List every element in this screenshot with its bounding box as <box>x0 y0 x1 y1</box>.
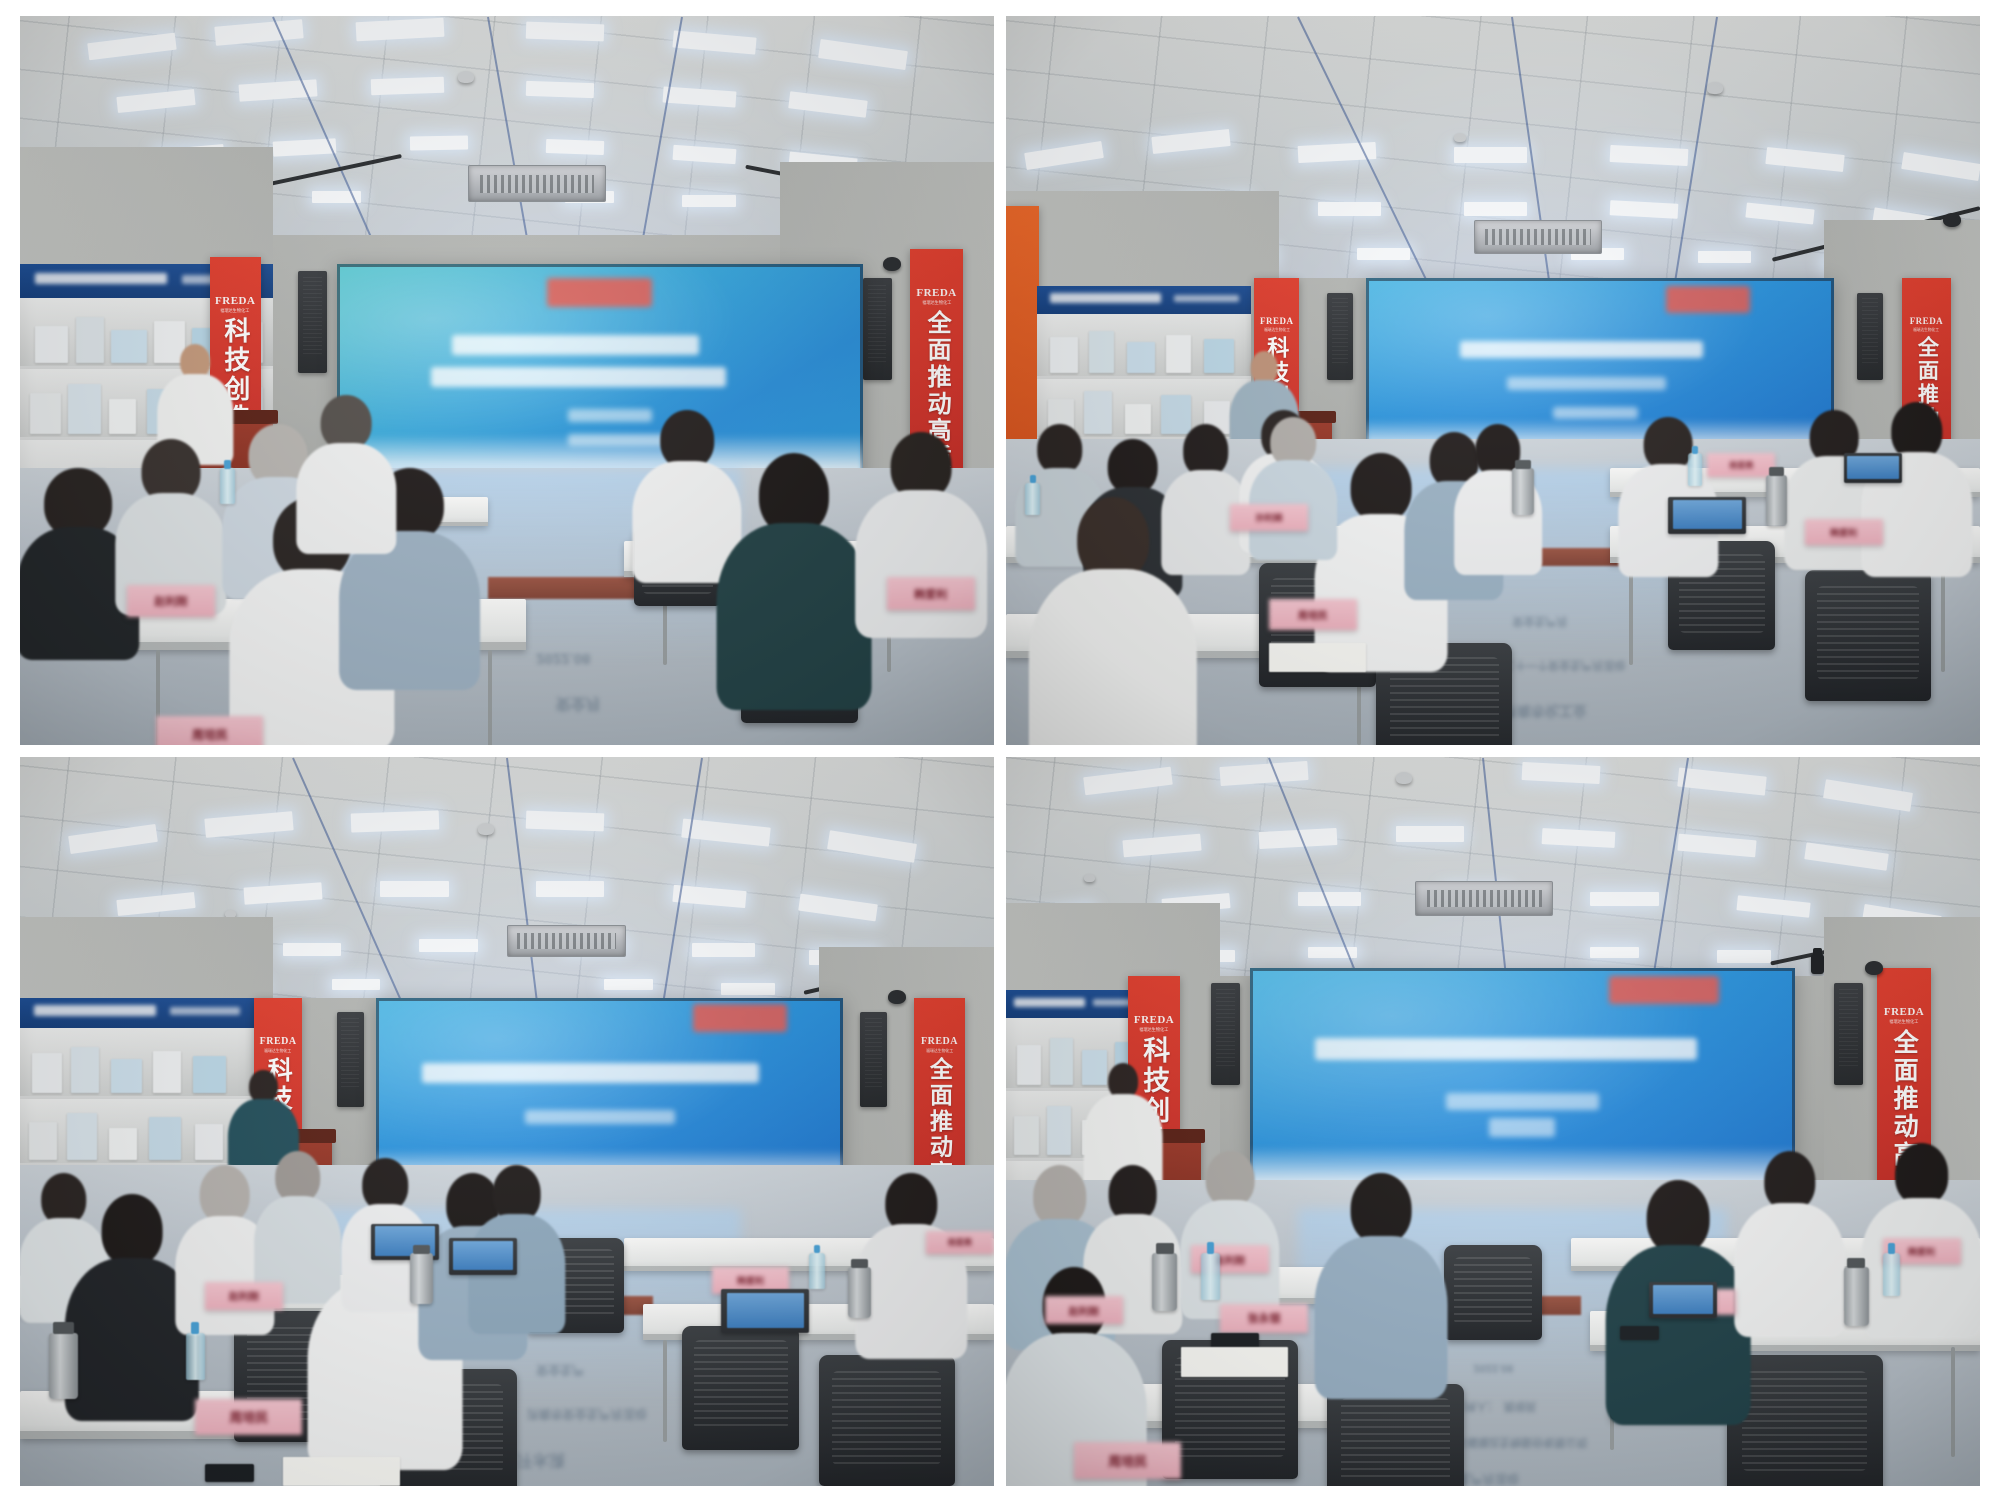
attendee <box>721 453 867 686</box>
smartphone <box>205 1464 254 1482</box>
panel-bottom-right: FREDA 福瑞达生物化工 科技创造 FREDA 福瑞达生物化工 全面推动高质 <box>1006 757 1980 1486</box>
name-card: 张永银 <box>1220 1304 1308 1333</box>
table-leg <box>1629 563 1633 665</box>
chair <box>1444 1245 1541 1340</box>
name-card-text: 韩爱利 <box>914 586 947 602</box>
shelf-sign-text <box>1050 293 1161 303</box>
slide-title <box>452 335 699 355</box>
ceiling-lamp <box>1454 147 1527 163</box>
thermos <box>1844 1267 1869 1325</box>
meeting-room-scene: FREDA 福瑞达生物化工 科技创造 FREDA 福瑞达生物化工 全面推动高质 <box>20 757 994 1486</box>
attendee-body <box>1315 1236 1448 1399</box>
attendee <box>1162 424 1250 563</box>
product-box <box>153 1051 181 1093</box>
water-bottle <box>1025 483 1040 516</box>
product-box <box>67 1113 97 1160</box>
banner-side-text <box>1016 247 1030 264</box>
attendee-body <box>717 523 872 710</box>
attendee <box>1737 1151 1844 1319</box>
product-box <box>1089 331 1115 373</box>
panel-bottom-left: FREDA 福瑞达生物化工 科技创造 FREDA 福瑞达生物化工 全面推动高质 <box>20 757 994 1486</box>
banner-brand-sub: 福瑞达生物化工 <box>922 301 951 306</box>
laptop <box>721 1289 809 1333</box>
name-card-text: 韩爱利 <box>1908 1245 1935 1258</box>
name-card-text: 周培民 <box>192 726 228 743</box>
product-box <box>111 1059 141 1093</box>
meeting-room-scene: FREDA 福瑞达生物化工 科技创造 FREDA 福瑞达生物化工 全面推动高质 <box>20 16 994 745</box>
floor-reflected-text: 安全生产 <box>536 1362 584 1379</box>
banner-brand: FREDA <box>1884 1007 1924 1018</box>
slide-title <box>1315 1038 1697 1060</box>
chair <box>819 1355 955 1486</box>
ceiling-lamp <box>604 979 653 990</box>
product-box <box>1125 404 1151 433</box>
attendee <box>858 1173 965 1341</box>
ceiling-lamp <box>526 22 604 42</box>
shelf-row <box>1037 314 1251 378</box>
shelf-row <box>20 1028 254 1099</box>
panel-top-left: FREDA 福瑞达生物化工 科技创造 FREDA 福瑞达生物化工 全面推动高质 <box>20 16 994 745</box>
name-card: 赵利刚 <box>1045 1296 1123 1324</box>
product-box <box>1014 1116 1039 1155</box>
slide-title-line2 <box>431 367 726 387</box>
chair <box>1327 1384 1463 1486</box>
smartphone <box>1620 1326 1659 1341</box>
name-card-text: 孙利娟 <box>1255 511 1282 524</box>
name-card: 赵利刚 <box>127 585 215 618</box>
ceiling-lamp <box>526 810 604 831</box>
thermos <box>1512 468 1533 515</box>
name-card: 赵利刚 <box>205 1282 283 1310</box>
name-card: 周培民 <box>195 1399 302 1435</box>
security-camera-icon <box>1865 961 1883 975</box>
attendee <box>298 395 395 541</box>
product-box <box>76 317 104 363</box>
water-bottle <box>186 1333 205 1380</box>
name-card-text: 杨爱燕 <box>1729 460 1753 471</box>
attendee-head <box>1351 1173 1412 1244</box>
wall-speaker <box>1211 983 1240 1085</box>
wall-speaker <box>1834 983 1863 1085</box>
wall-speaker <box>1857 293 1882 380</box>
banner-brand-sub: 福瑞达生物化工 <box>221 309 250 314</box>
thermos <box>1766 475 1787 526</box>
security-camera-icon <box>883 257 901 271</box>
table-leg <box>488 650 492 745</box>
name-card: 周培民 <box>1074 1442 1181 1478</box>
smoke-detector-icon <box>1707 82 1723 94</box>
attendee <box>1318 1173 1445 1377</box>
attendee-body <box>1734 1203 1845 1337</box>
smoke-detector-icon <box>1454 133 1466 142</box>
meeting-room-scene: FREDA 福瑞达生物化工 科技创造 FREDA 福瑞达生物化工 全面推动高质 <box>1006 757 1980 1486</box>
slide-badge <box>1609 976 1718 1005</box>
floor-reflected-text: 汗水浇 <box>517 1450 565 1474</box>
attendee <box>117 439 224 599</box>
floor-reflected-text: 安全月 <box>556 694 601 715</box>
banner-brand: FREDA <box>921 1037 958 1047</box>
name-card-text: 周培民 <box>1298 607 1328 622</box>
ceiling-lamp <box>419 939 477 952</box>
product-box <box>29 1122 57 1160</box>
ceiling-lamp <box>1717 950 1771 962</box>
table-leg <box>1951 1347 1955 1456</box>
banner-brand-sub: 福瑞达生物化工 <box>1914 328 1940 332</box>
attendee <box>1863 1143 1980 1318</box>
banner-brand: FREDA <box>260 1037 297 1047</box>
slide-subtitle <box>1507 377 1666 390</box>
table-leg <box>663 1340 667 1442</box>
attendee-head <box>1107 439 1158 494</box>
product-box <box>149 1117 182 1160</box>
ceiling-lamp <box>536 881 604 897</box>
shelf-sign-text <box>34 1005 156 1015</box>
banner-brand: FREDA <box>1134 1015 1174 1026</box>
air-conditioner-vent <box>1415 881 1553 917</box>
product-box <box>71 1047 99 1093</box>
name-card-text: 韩爱利 <box>1830 526 1857 539</box>
product-box <box>1047 1106 1072 1155</box>
slide-badge <box>547 278 652 308</box>
laptop <box>1844 453 1902 482</box>
wall-speaker <box>298 271 327 373</box>
water-bottle <box>1688 453 1703 486</box>
banner-brand: FREDA <box>1260 317 1294 326</box>
attendee-body <box>855 490 987 638</box>
product-box <box>32 1053 62 1092</box>
attendee <box>1181 1151 1278 1304</box>
attendee-body <box>1861 1198 1980 1338</box>
ceiling-lamp <box>332 979 381 990</box>
attendee-head <box>1895 1143 1949 1204</box>
ceiling-lamp <box>1318 202 1381 216</box>
thermos <box>49 1333 78 1399</box>
notepad <box>1181 1347 1288 1376</box>
smoke-detector-icon <box>1396 772 1412 784</box>
shelf-sign-text-secondary <box>1174 295 1238 302</box>
name-card: 杨爱燕 <box>1707 453 1775 476</box>
slide-badge <box>693 1004 787 1033</box>
attendee-head <box>102 1194 163 1265</box>
wall-speaker <box>863 278 892 380</box>
chair <box>1805 570 1932 701</box>
name-card-text: 杨爱燕 <box>948 1237 972 1248</box>
shelf-row <box>20 1096 254 1167</box>
photo-collage: FREDA 福瑞达生物化工 科技创造 FREDA 福瑞达生物化工 全面推动高质 <box>0 0 2000 1499</box>
floor-reflected-text: 济南市安全生产月活动 <box>526 1406 646 1423</box>
laptop <box>1649 1282 1717 1318</box>
floor-reflected-text: 山东福瑞达生物股份有限公司 <box>1444 1435 1587 1451</box>
ceiling-lamp <box>1590 892 1658 907</box>
ceiling-lamp <box>351 810 439 832</box>
product-box <box>111 330 146 363</box>
shelf-sign-text-secondary <box>170 1007 240 1015</box>
name-card: 韩爱利 <box>887 577 975 610</box>
slide-subtitle-2 <box>1489 1118 1554 1137</box>
ceiling-lamp <box>380 881 448 897</box>
banner-brand-sub: 福瑞达生物化工 <box>265 1049 292 1053</box>
thermos <box>410 1253 433 1304</box>
wall-speaker <box>860 1012 887 1107</box>
notepad <box>1269 643 1366 672</box>
thermos <box>1152 1253 1177 1311</box>
ceiling-lamp <box>1698 251 1752 263</box>
attendee-head <box>1647 1180 1710 1254</box>
ceiling-lamp <box>409 136 468 151</box>
name-card: 韩爱利 <box>1805 519 1883 545</box>
banner-brand: FREDA <box>916 288 956 299</box>
product-box <box>195 1124 223 1161</box>
ceiling-lamp <box>1464 202 1527 216</box>
ceiling-lamp <box>1590 947 1639 959</box>
name-card-text: 周培民 <box>229 1407 268 1426</box>
slide-subtitle <box>525 1110 675 1124</box>
security-camera-icon <box>1943 213 1961 227</box>
smoke-detector-icon <box>1084 874 1095 882</box>
banner-brand-sub: 福瑞达生物化工 <box>1890 1020 1919 1025</box>
product-box <box>35 326 68 364</box>
floor-reflected-text: 第二十一个安全生产月活动 <box>1493 658 1625 674</box>
name-card-text: 赵利刚 <box>1069 1303 1099 1318</box>
banner-brand-sub: 福瑞达生物化工 <box>1264 328 1290 332</box>
banner-brand-sub: 福瑞达生物化工 <box>926 1049 953 1053</box>
slide-title <box>1460 341 1703 358</box>
product-box <box>109 1128 137 1160</box>
shelf-sign-text <box>35 273 167 285</box>
panel-top-right: FREDA 福瑞达生物化工 科技创造 FREDA 福瑞达生物化工 全面推动高质 <box>1006 16 1980 745</box>
name-card-text: 赵利刚 <box>154 593 187 609</box>
floor-reflected-text: 主持人： 周培民 <box>1454 1399 1537 1415</box>
meeting-room-scene: FREDA 福瑞达生物化工 科技创造 FREDA 福瑞达生物化工 全面推动高质 <box>1006 16 1980 745</box>
product-box <box>1050 1038 1073 1086</box>
ceiling-lamp <box>546 139 605 155</box>
air-conditioner-vent <box>1474 220 1603 254</box>
banner-brand-sub: 福瑞达生物化工 <box>1140 1028 1169 1033</box>
shelf-company-sign <box>20 998 254 1028</box>
attendee-body <box>297 443 396 554</box>
product-box <box>1166 335 1192 373</box>
water-bottle <box>220 468 236 504</box>
floor-reflected-text: 2022.08 <box>536 650 590 667</box>
collage-grid: FREDA 福瑞达生物化工 科技创造 FREDA 福瑞达生物化工 全面推动高质 <box>20 16 1980 1486</box>
banner-brand: FREDA <box>215 296 255 307</box>
name-card-text: 张永银 <box>1248 1310 1281 1326</box>
ceiling-lamp <box>721 983 775 995</box>
smoke-detector-icon <box>458 71 474 83</box>
slide-badge <box>1666 286 1750 313</box>
table-leg <box>1941 563 1945 672</box>
ceiling-lamp <box>682 195 736 207</box>
laptop <box>1668 497 1746 533</box>
name-card-text: 赵利刚 <box>229 1288 259 1303</box>
name-card-text: 周培民 <box>1108 1451 1147 1470</box>
shelf-company-sign <box>1006 990 1142 1018</box>
air-conditioner-vent <box>468 165 606 202</box>
product-box <box>1127 342 1155 373</box>
ceiling-lamp <box>1396 826 1464 842</box>
name-card-text: 韩爱利 <box>737 1274 764 1287</box>
thermos <box>848 1267 871 1318</box>
ceiling-lamp <box>1298 892 1361 906</box>
attendee <box>1620 417 1717 563</box>
attendee-head <box>321 395 372 450</box>
attendee-head <box>199 1165 250 1223</box>
wall-speaker <box>337 1012 364 1107</box>
ceiling-lamp <box>370 77 444 96</box>
notepad <box>283 1457 400 1486</box>
floor-reflected-text: 济南市化工业 <box>1503 701 1587 721</box>
smoke-detector-icon <box>478 823 494 835</box>
banner-brand: FREDA <box>1910 317 1944 326</box>
attendee-body <box>1029 569 1197 745</box>
name-card: 杨爱燕 <box>926 1231 994 1254</box>
ceiling-lamp <box>526 80 595 98</box>
ceiling-lamp <box>283 943 341 956</box>
wall-speaker <box>1327 293 1352 380</box>
name-card: 周培民 <box>1269 599 1357 630</box>
shelf-company-sign <box>1037 286 1251 315</box>
name-card: 周培民 <box>156 716 263 745</box>
chair <box>682 1326 799 1450</box>
product-box <box>193 1056 226 1093</box>
product-box <box>30 393 60 434</box>
slide-title <box>422 1063 759 1083</box>
spotlight-icon <box>1811 954 1824 974</box>
product-box <box>109 399 137 434</box>
water-bottle <box>1201 1253 1220 1300</box>
attendee-head <box>1351 453 1412 522</box>
attendee-body <box>339 531 481 690</box>
slide-subtitle <box>1446 1093 1599 1110</box>
name-card: 孙利娟 <box>1230 504 1308 530</box>
ceiling-lamp <box>692 943 755 957</box>
laptop <box>449 1238 517 1274</box>
water-bottle <box>1883 1253 1901 1297</box>
product-box <box>1050 337 1078 373</box>
product-box <box>68 384 101 434</box>
shelf-sign-text <box>1014 998 1085 1008</box>
water-bottle <box>809 1253 825 1289</box>
product-box <box>1017 1045 1042 1086</box>
floor-reflected-text: 2022.08 <box>1474 1362 1514 1374</box>
ceiling-lamp <box>1357 248 1411 260</box>
air-conditioner-vent <box>507 925 626 958</box>
floor-reflected-text: 安全生产月 <box>1512 614 1567 630</box>
